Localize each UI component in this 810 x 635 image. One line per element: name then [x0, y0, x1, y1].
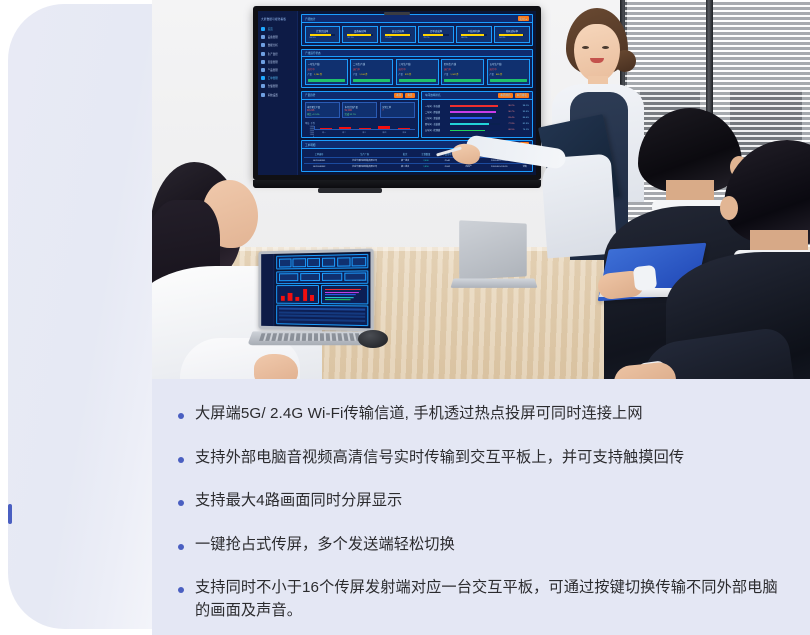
status-value: 1,284 件: [314, 72, 322, 76]
x-tick: 周二: [338, 131, 350, 134]
kpi-card[interactable]: 能耗达标率 94.3%: [494, 26, 529, 43]
ranking-label: 二车间 · 焊装线: [425, 110, 448, 114]
kpi-value: 94.3%: [499, 37, 505, 39]
status-indicator-bar: [444, 79, 481, 82]
list-item: 支持最大4路画面同时分屏显示: [178, 490, 790, 513]
ranking-panel-header: 车间效率排名 本周排名 本月排名: [422, 92, 532, 100]
laptop-kpi: [307, 257, 320, 266]
kpi-progress: [461, 34, 486, 36]
status-alert: 运行中: [308, 67, 345, 71]
product-icon: [261, 68, 265, 72]
feature-text: 一键抢占式传屏，多个发送端轻松切换: [195, 534, 455, 557]
status-metric: 产量 865 件: [490, 72, 527, 76]
feature-text: 支持外部电脑音视频高清信号实时传输到交互平板上，并可支持触摸回传: [195, 447, 684, 470]
ranking-value-2: 74.1%: [517, 129, 529, 131]
sidebar-item-8[interactable]: 系统设置: [261, 93, 294, 97]
stat-value: 7: [382, 109, 412, 112]
laptop-status: [300, 273, 320, 281]
ranking-row[interactable]: 三车间 · 涂装线 83.4% 86.0%: [425, 116, 529, 120]
dashboard-sidebar: 大屏数据可视化看板 首页 设备管理: [258, 11, 298, 175]
laptop-lid: [258, 249, 373, 332]
status-metric: 产量 1,342 件: [444, 72, 481, 76]
status-metric: 产量 1,284 件: [308, 72, 345, 76]
stat-sub: 完成 92.7%: [345, 112, 375, 116]
list-item: 一键抢占式传屏，多个发送端轻松切换: [178, 534, 790, 557]
cell: 第二批次: [395, 164, 415, 170]
kpi-card[interactable]: 计划完成率 86.5%: [305, 26, 340, 43]
status-card[interactable]: 一号生产线 运行中 产量 1,284 件: [305, 59, 348, 85]
man2-hair: [724, 140, 810, 244]
conference-microphone: [358, 330, 388, 348]
status-title: 五号生产线: [490, 62, 527, 66]
home-icon: [261, 27, 265, 31]
ranking-label: 一车间 · 冲压线: [425, 104, 448, 108]
sidebar-item-2-label: 数据分析: [268, 43, 278, 47]
cell: 2024-08-14 09:30: [479, 164, 519, 170]
status-card[interactable]: 四号生产线 运行中 产量 1,342 件: [441, 59, 484, 85]
feature-text: 支持同时不小于16个传屏发射端对应一台交互平板，可通过按键切换传输不同外部电脑的…: [195, 577, 790, 622]
kpi-panel-title: 产能统计: [305, 17, 315, 21]
bullet-icon: [178, 500, 184, 506]
second-laptop: [452, 222, 532, 298]
cell: JX-B2: [437, 164, 458, 170]
ranking-panel: 车间效率排名 本周排名 本月排名 一车间 · 冲压线: [421, 91, 533, 138]
cell: 北京华晨机械制造有限公司: [334, 164, 395, 170]
sidebar-item-1[interactable]: 设备管理: [261, 35, 294, 39]
list-item: 支持外部电脑音视频高清信号实时传输到交互平板上，并可支持触摸回传: [178, 447, 790, 470]
chart-icon: [261, 43, 265, 47]
table-panel-title: 工单明细: [305, 143, 315, 147]
ranking-panel-title: 车间效率排名: [425, 93, 441, 97]
kpi-progress: [385, 34, 410, 36]
ranking-value-2: 93.5%: [517, 111, 529, 113]
sidebar-item-7-label: 仓储管理: [268, 84, 278, 88]
ranking-label: 三车间 · 涂装线: [425, 116, 448, 120]
laptop-status: [322, 273, 343, 281]
ranking-value-1: 68.5%: [502, 129, 514, 131]
status-title: 二号生产线: [353, 62, 390, 66]
kpi-panel-badge: 实时 ●: [518, 16, 529, 21]
laptop-kpi-row: [276, 254, 368, 270]
kpi-value: 86.5%: [310, 37, 316, 39]
status-alert: 运行中: [353, 67, 390, 71]
chart-panel-header: 产量趋势 本周 本月: [302, 92, 418, 100]
tv-brand-logo: [384, 12, 410, 15]
product-detail-page: 大屏数据可视化看板 首页 设备管理: [0, 0, 810, 635]
chart-stat-row: 本月累计产量 48,216 环比 +12.4% 本月计划产量 52,000 完成…: [302, 100, 418, 120]
status-title: 四号生产线: [444, 62, 481, 66]
kpi-progress: [310, 34, 335, 36]
ranking-row[interactable]: 一车间 · 冲压线 96.2% 98.1%: [425, 104, 529, 108]
kpi-progress: [423, 34, 448, 36]
dashboard-mid-row: 产量趋势 本周 本月 本月累计产量 48,216: [301, 91, 533, 138]
bullet-icon: [178, 587, 184, 593]
ranking-tab-month[interactable]: 本月排名: [515, 93, 529, 98]
laptop-dash-sidebar: [261, 254, 274, 326]
feature-list: 大屏端5G/ 2.4G Wi-Fi传输信道, 手机透过热点投屏可同时连接上网 支…: [152, 379, 810, 635]
chart-stat-card: 本月累计产量 48,216 环比 +12.4%: [305, 102, 340, 118]
dashboard-logo: 大屏数据可视化看板: [258, 15, 297, 25]
kpi-card[interactable]: 设备稼动率 92.1%: [342, 26, 377, 43]
ranking-label: 五车间 · 检测线: [425, 128, 448, 132]
kpi-title: 产线开机率: [468, 29, 481, 33]
status-label: 产量: [308, 72, 312, 76]
chart-caption: 单位: 千件: [305, 121, 415, 125]
chart-stat-card: 本月计划产量 52,000 完成 92.7%: [342, 102, 377, 118]
ranking-value-1: 90.7%: [502, 111, 514, 113]
sidebar-item-4-label: 质量管理: [268, 60, 278, 64]
x-tick: 周一: [318, 131, 330, 134]
stat-sub: 环比 +12.4%: [307, 112, 337, 116]
feature-text: 支持最大4路画面同时分屏显示: [195, 490, 402, 513]
ranking-value-1: 83.4%: [502, 117, 514, 119]
x-tick: 周四: [378, 131, 390, 134]
status-value: 865 件: [496, 72, 502, 76]
second-laptop-lid: [459, 220, 527, 280]
bar-chart: 单位: 千件 5000 4000 3000 2000 1000: [302, 119, 418, 136]
sidebar-item-2[interactable]: 数据分析: [261, 43, 294, 47]
status-indicator-bar: [353, 79, 390, 82]
kpi-value: 88.9%: [461, 37, 467, 39]
kpi-card[interactable]: 良品合格率 97.4%: [380, 26, 415, 43]
ranking-value-2: 86.0%: [517, 117, 529, 119]
ranking-value-2: 98.1%: [517, 105, 529, 107]
kpi-title: 订单达成率: [430, 29, 443, 33]
bar-item[interactable]: [398, 126, 410, 129]
sidebar-item-8-label: 系统设置: [268, 93, 278, 97]
feature-text: 大屏端5G/ 2.4G Wi-Fi传输信道, 手机透过热点投屏可同时连接上网: [195, 403, 643, 426]
kpi-progress: [499, 34, 524, 36]
man-in-suit-back-2: [672, 140, 810, 379]
chart-panel: 产量趋势 本周 本月 本月累计产量 48,216: [301, 91, 419, 138]
status-panel: 产线运行状态 一号生产线 运行中 产量 1,284 件: [301, 49, 533, 89]
x-tick: 周三: [358, 131, 370, 134]
kpi-panel: 产能统计 实时 ● 计划完成率 86.5% 设备稼动率: [301, 14, 533, 46]
sidebar-item-3[interactable]: 生产监控: [261, 52, 294, 56]
sidebar-item-4[interactable]: 质量管理: [261, 60, 294, 64]
sidebar-item-0-label: 首页: [268, 27, 273, 31]
sidebar-item-6-label: 工单管理: [268, 76, 278, 80]
content-column: 大屏数据可视化看板 首页 设备管理: [152, 0, 810, 635]
ranking-progress: [450, 105, 500, 107]
kpi-panel-header: 产能统计 实时 ●: [302, 15, 532, 23]
product-scene-photo: 大屏数据可视化看板 首页 设备管理: [152, 0, 810, 379]
ranking-label: 四车间 · 总装线: [425, 122, 448, 126]
sidebar-item-1-label: 设备管理: [268, 35, 278, 39]
ranking-tab-week[interactable]: 本周排名: [498, 93, 512, 98]
status-row: 一号生产线 运行中 产量 1,284 件 二号生产线: [302, 57, 532, 88]
status-title: 一号生产线: [308, 62, 345, 66]
laptop-kpi: [337, 257, 351, 266]
ranking-list: 一车间 · 冲压线 96.2% 98.1% 二车间 · 焊装线 90.7%: [422, 100, 532, 137]
presenter-face: [574, 24, 620, 82]
kpi-value: 92.1%: [347, 37, 353, 39]
table-row[interactable]: GD20240802 北京华晨机械制造有限公司 第二批次 1,850 JX-B2…: [304, 164, 530, 170]
cell: 1,850: [415, 164, 436, 170]
list-item: 大屏端5G/ 2.4G Wi-Fi传输信道, 手机透过热点投屏可同时连接上网: [178, 403, 790, 426]
sidebar-item-0[interactable]: 首页: [261, 27, 294, 31]
cell-action[interactable]: 详情: [519, 164, 530, 170]
ranking-row[interactable]: 五车间 · 检测线 68.5% 74.1%: [425, 128, 529, 132]
x-tick: 周五: [398, 131, 410, 134]
tv-wall-mount: [318, 188, 382, 193]
ranking-progress: [450, 130, 500, 132]
bullet-icon: [178, 457, 184, 463]
kpi-value: 78.2%: [423, 37, 429, 39]
sidebar-item-5-label: 产品管理: [268, 68, 278, 72]
status-label: 产量: [399, 72, 403, 76]
gear-icon: [261, 93, 265, 97]
status-title: 三号生产线: [399, 62, 436, 66]
status-indicator-bar: [308, 79, 345, 82]
second-laptop-base: [450, 278, 537, 287]
ranking-value-1: 77.9%: [502, 123, 514, 125]
bar-series: [315, 126, 415, 129]
shirt-cuff: [633, 265, 657, 291]
list-item: 支持同时不小于16个传屏发射端对应一台交互平板，可通过按键切换传输不同外部电脑的…: [178, 577, 790, 622]
status-metric: 产量 1,106 件: [353, 72, 390, 76]
kpi-title: 能耗达标率: [506, 29, 519, 33]
status-alert: 运行中: [399, 67, 436, 71]
laptop-dash-main: [274, 252, 370, 329]
status-card[interactable]: 五号生产线 运行中 产量 865 件: [487, 59, 530, 85]
status-label: 产量: [444, 72, 448, 76]
status-value: 1,106 件: [359, 72, 367, 76]
bar-item[interactable]: [359, 126, 371, 129]
status-alert: 运行中: [444, 67, 481, 71]
left-decorative-panel: [8, 4, 158, 629]
order-icon: [261, 76, 265, 80]
status-value: 978 件: [405, 72, 411, 76]
laptop-kpi: [352, 256, 366, 265]
y-tick: 0: [305, 136, 314, 138]
status-label: 产量: [490, 72, 494, 76]
status-card[interactable]: 二号生产线 运行中 产量 1,106 件: [350, 59, 393, 85]
status-card[interactable]: 三号生产线 运行中 产量 978 件: [396, 59, 439, 85]
kpi-title: 设备稼动率: [354, 29, 367, 33]
laptop-ranking: [321, 285, 369, 304]
bullet-icon: [178, 544, 184, 550]
status-value: 1,342 件: [450, 72, 458, 76]
kpi-progress: [347, 34, 372, 36]
scroll-position-marker[interactable]: [8, 504, 12, 524]
chart-x-axis: 周一 周二 周三 周四 周五: [305, 131, 415, 134]
kpi-title: 良品合格率: [392, 29, 405, 33]
kpi-title: 计划完成率: [316, 29, 329, 33]
presenter-eye-left: [582, 46, 589, 49]
status-panel-header: 产线运行状态: [302, 50, 532, 57]
status-indicator-bar: [490, 79, 527, 82]
laptop-screen: [261, 252, 370, 329]
status-indicator-bar: [399, 79, 436, 82]
status-metric: 产量 978 件: [399, 72, 436, 76]
chart-plot-area: [314, 126, 415, 130]
ranking-value-2: 82.3%: [517, 123, 529, 125]
ranking-row[interactable]: 四车间 · 总装线 77.9% 82.3%: [425, 122, 529, 126]
device-icon: [261, 35, 265, 39]
bar-item[interactable]: [320, 126, 332, 129]
status-panel-title: 产线运行状态: [305, 51, 321, 55]
kpi-row: 计划完成率 86.5% 设备稼动率 92.1%: [302, 23, 532, 45]
laptop-status: [279, 273, 299, 281]
bullet-icon: [178, 413, 184, 419]
status-label: 产量: [353, 72, 357, 76]
sidebar-item-7[interactable]: 仓储管理: [261, 84, 294, 88]
sidebar-item-5[interactable]: 产品管理: [261, 68, 294, 72]
laptop-kpi: [322, 257, 335, 266]
ranking-progress: [450, 111, 500, 113]
ranking-progress: [450, 123, 500, 125]
laptop-bar-chart: [276, 285, 319, 304]
laptop-keyboard: [259, 333, 373, 341]
presenter-eye-right: [602, 46, 609, 49]
quality-icon: [261, 60, 265, 64]
chart-tab-week[interactable]: 本周: [394, 93, 403, 98]
laptop-table: [276, 305, 368, 327]
ranking-progress: [450, 117, 500, 119]
bar-item[interactable]: [339, 126, 351, 129]
kpi-card[interactable]: 订单达成率 78.2%: [418, 26, 453, 43]
monitor-icon: [261, 52, 265, 56]
dashboard-nav: 首页 设备管理 数据分析: [258, 25, 297, 99]
laptop-status-row: [276, 270, 368, 284]
bar-item[interactable]: [378, 126, 390, 129]
sidebar-item-6[interactable]: 工单管理: [261, 76, 294, 80]
kpi-value: 97.4%: [385, 37, 391, 39]
laptop-kpi: [279, 258, 292, 267]
sidebar-item-3-label: 生产监控: [268, 52, 278, 56]
laptop-kpi: [293, 258, 306, 267]
ranking-row[interactable]: 二车间 · 焊装线 90.7% 93.5%: [425, 110, 529, 114]
chart-panel-title: 产量趋势: [305, 93, 315, 97]
status-alert: 运行中: [490, 67, 527, 71]
ranking-value-1: 96.2%: [502, 105, 514, 107]
chart-body: 5000 4000 3000 2000 1000 0: [305, 126, 415, 130]
man2-ear: [720, 196, 738, 220]
kpi-card[interactable]: 产线开机率 88.9%: [456, 26, 491, 43]
chart-tab-month[interactable]: 本月: [405, 93, 414, 98]
chart-stat-card: 异常工单 7: [380, 102, 415, 118]
warehouse-icon: [261, 84, 265, 88]
laptop-status: [344, 272, 366, 280]
